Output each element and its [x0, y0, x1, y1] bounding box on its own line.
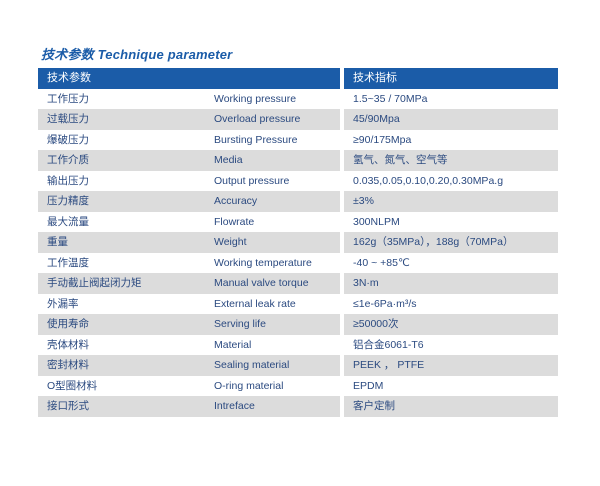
- cell-parameter-cn: 壳体材料: [38, 335, 205, 356]
- cell-parameter-cn: 工作温度: [38, 253, 205, 274]
- table-row: 工作介质Media氢气、氮气、空气等: [38, 150, 558, 171]
- table-row: 输出压力Output pressure0.035,0.05,0.10,0.20,…: [38, 171, 558, 192]
- cell-parameter-en: Weight: [205, 232, 340, 253]
- cell-parameter-en: Working pressure: [205, 89, 340, 110]
- cell-indicator-value: 客户定制: [344, 396, 558, 417]
- table-header: 技术参数 技术指标: [38, 68, 558, 89]
- cell-parameter-cn: 使用寿命: [38, 314, 205, 335]
- cell-parameter-en: Sealing material: [205, 355, 340, 376]
- cell-parameter-en: Serving life: [205, 314, 340, 335]
- cell-parameter-en: Output pressure: [205, 171, 340, 192]
- cell-parameter-en: Working temperature: [205, 253, 340, 274]
- cell-indicator-value: 45/90Mpa: [344, 109, 558, 130]
- cell-parameter-en: Overload pressure: [205, 109, 340, 130]
- spec-sheet-page: 技术参数 Technique parameter 技术参数 技术指标 工作压力W…: [0, 0, 600, 486]
- cell-parameter-cn: O型圈材料: [38, 376, 205, 397]
- table-row: 重量Weight162g（35MPa），188g（70MPa）: [38, 232, 558, 253]
- cell-parameter-cn: 过载压力: [38, 109, 205, 130]
- cell-parameter-en: External leak rate: [205, 294, 340, 315]
- cell-parameter-cn: 手动截止阀起闭力矩: [38, 273, 205, 294]
- cell-parameter-cn: 爆破压力: [38, 130, 205, 151]
- cell-parameter-en: Flowrate: [205, 212, 340, 233]
- cell-parameter-cn: 工作压力: [38, 89, 205, 110]
- table-row: 最大流量Flowrate300NLPM: [38, 212, 558, 233]
- table-row: 密封材料Sealing materialPEEK ， PTFE: [38, 355, 558, 376]
- cell-indicator-value: PEEK ， PTFE: [344, 355, 558, 376]
- table-row: 壳体材料Material铝合金6061-T6: [38, 335, 558, 356]
- cell-indicator-value: 3N·m: [344, 273, 558, 294]
- cell-parameter-en: Bursting Pressure: [205, 130, 340, 151]
- cell-indicator-value: 氢气、氮气、空气等: [344, 150, 558, 171]
- table-row: 爆破压力Bursting Pressure≥90/175Mpa: [38, 130, 558, 151]
- cell-indicator-value: 300NLPM: [344, 212, 558, 233]
- cell-indicator-value: 0.035,0.05,0.10,0.20,0.30MPa.g: [344, 171, 558, 192]
- cell-indicator-value: ≥90/175Mpa: [344, 130, 558, 151]
- table-header-row: 技术参数 技术指标: [38, 68, 558, 89]
- cell-parameter-cn: 重量: [38, 232, 205, 253]
- table-row: 接口形式Intreface客户定制: [38, 396, 558, 417]
- cell-parameter-en: Intreface: [205, 396, 340, 417]
- cell-indicator-value: -40 ~ +85℃: [344, 253, 558, 274]
- table-row: 外漏率External leak rate≤1e-6Pa·m³/s: [38, 294, 558, 315]
- table-row: 手动截止阀起闭力矩Manual valve torque3N·m: [38, 273, 558, 294]
- cell-indicator-value: 162g（35MPa），188g（70MPa）: [344, 232, 558, 253]
- cell-parameter-en: Manual valve torque: [205, 273, 340, 294]
- table-row: 工作压力Working pressure1.5~35 / 70MPa: [38, 89, 558, 110]
- table-row: 压力精度Accuracy±3%: [38, 191, 558, 212]
- header-cell-indicator: 技术指标: [344, 68, 558, 89]
- cell-indicator-value: ≥50000次: [344, 314, 558, 335]
- cell-parameter-en: O-ring material: [205, 376, 340, 397]
- cell-parameter-cn: 输出压力: [38, 171, 205, 192]
- cell-parameter-en: Media: [205, 150, 340, 171]
- cell-parameter-en: Material: [205, 335, 340, 356]
- table-row: 过载压力Overload pressure45/90Mpa: [38, 109, 558, 130]
- cell-parameter-en: Accuracy: [205, 191, 340, 212]
- table-body: 工作压力Working pressure1.5~35 / 70MPa过载压力Ov…: [38, 89, 558, 417]
- table-row: 使用寿命Serving life≥50000次: [38, 314, 558, 335]
- page-title: 技术参数 Technique parameter: [41, 44, 232, 63]
- cell-indicator-value: 铝合金6061-T6: [344, 335, 558, 356]
- cell-parameter-cn: 密封材料: [38, 355, 205, 376]
- technique-parameter-table: 技术参数 技术指标 工作压力Working pressure1.5~35 / 7…: [38, 68, 558, 417]
- cell-parameter-cn: 工作介质: [38, 150, 205, 171]
- cell-indicator-value: ±3%: [344, 191, 558, 212]
- cell-indicator-value: ≤1e-6Pa·m³/s: [344, 294, 558, 315]
- cell-parameter-cn: 压力精度: [38, 191, 205, 212]
- table-row: 工作温度Working temperature-40 ~ +85℃: [38, 253, 558, 274]
- cell-parameter-cn: 最大流量: [38, 212, 205, 233]
- cell-parameter-cn: 接口形式: [38, 396, 205, 417]
- cell-indicator-value: EPDM: [344, 376, 558, 397]
- cell-indicator-value: 1.5~35 / 70MPa: [344, 89, 558, 110]
- table-row: O型圈材料O-ring materialEPDM: [38, 376, 558, 397]
- header-cell-parameter: 技术参数: [38, 68, 340, 89]
- cell-parameter-cn: 外漏率: [38, 294, 205, 315]
